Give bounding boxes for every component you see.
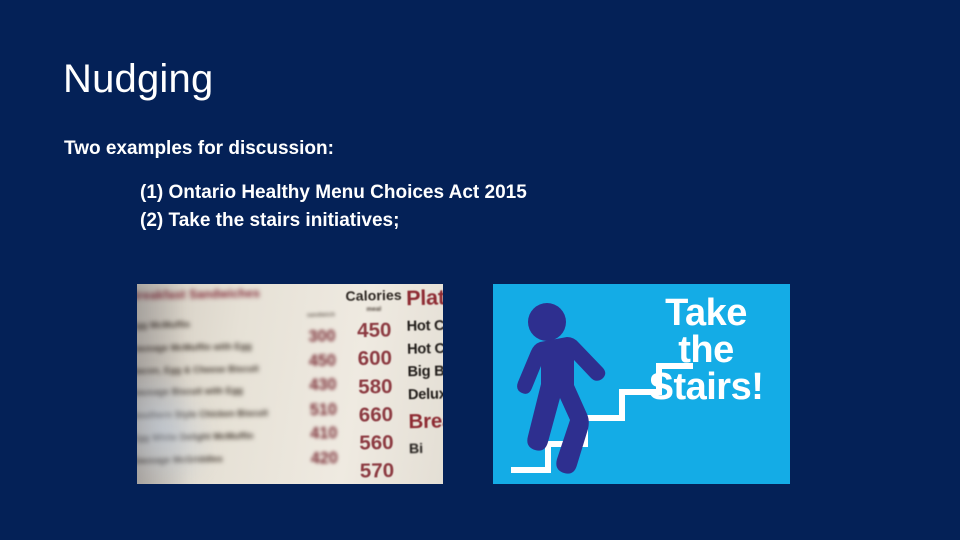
calories-subheader: meal xyxy=(339,306,408,314)
calorie-value: 600 xyxy=(340,348,410,370)
stairs-line-2: the xyxy=(636,332,776,369)
examples-list: (1) Ontario Healthy Menu Choices Act 201… xyxy=(140,179,527,235)
calorie-menu-board-photo: Breakfast Sandwiches Egg McMuffin Sausag… xyxy=(137,284,443,484)
list-item: (2) Take the stairs initiatives; xyxy=(140,207,527,235)
page-title: Nudging xyxy=(63,57,213,101)
menu-item: Hot Cakes xyxy=(407,338,443,357)
slide-canvas: Nudging Two examples for discussion: (1)… xyxy=(0,0,960,540)
menu-right-column: Platters Hot Cakes Hot Cakes Big Breakfa… xyxy=(406,284,443,456)
breakfast-header: Breakfast xyxy=(408,408,443,434)
calorie-value: 510 xyxy=(289,401,337,418)
calorie-value: 450 xyxy=(288,352,336,369)
stairs-line-3: Stairs! xyxy=(636,369,776,406)
menu-item: Deluxe Breakfast xyxy=(408,384,443,403)
menu-board-surface: Breakfast Sandwiches Egg McMuffin Sausag… xyxy=(137,284,443,484)
sandwich-calorie-column: sandwich 300 450 430 510 410 420 xyxy=(288,312,338,467)
take-the-stairs-sign: Take the Stairs! xyxy=(493,284,790,484)
calorie-value: 660 xyxy=(341,404,411,426)
menu-item-partial: Bi xyxy=(409,438,443,457)
meal-calorie-column: Calories meal 450 600 580 660 560 570 xyxy=(339,287,412,483)
platters-header: Platters xyxy=(406,284,443,311)
calorie-value: 300 xyxy=(288,328,336,345)
calorie-value: 410 xyxy=(290,425,338,442)
calorie-value: 570 xyxy=(342,461,412,483)
calorie-value: 430 xyxy=(289,377,337,394)
menu-item: Hot Cakes xyxy=(406,316,443,335)
list-item: (1) Ontario Healthy Menu Choices Act 201… xyxy=(140,179,527,207)
stairs-sign-text: Take the Stairs! xyxy=(636,295,776,406)
stairs-line-1: Take xyxy=(636,295,776,332)
calorie-value: 560 xyxy=(342,432,412,454)
menu-item: Big Breakfast xyxy=(407,361,443,380)
calorie-value: 420 xyxy=(290,450,338,467)
calorie-value: 580 xyxy=(341,376,411,398)
sandwich-calorie-label: sandwich xyxy=(288,312,336,319)
calorie-value: 450 xyxy=(340,320,410,342)
calories-header: Calories xyxy=(339,287,408,305)
intro-text: Two examples for discussion: xyxy=(64,138,334,160)
